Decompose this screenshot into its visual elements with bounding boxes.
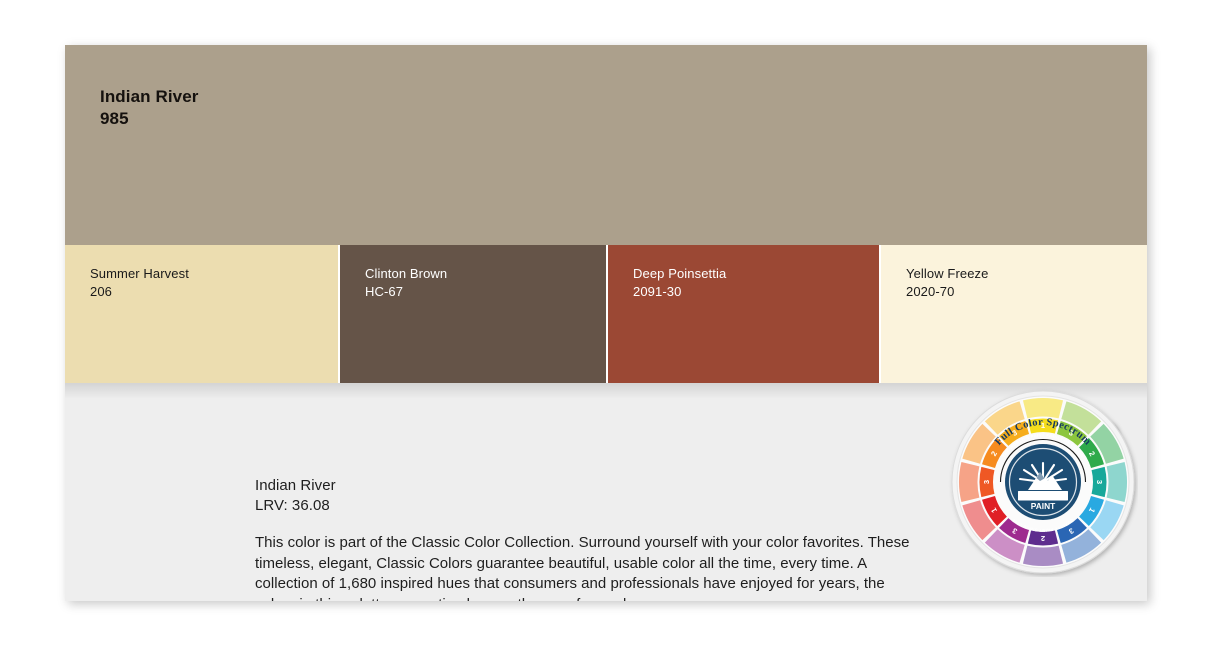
swatch-deep-poinsettia[interactable]: Deep Poinsettia 2091-30: [606, 245, 879, 383]
wheel-segment-outer: [1107, 462, 1127, 502]
swatch-color-code: 206: [90, 283, 189, 301]
swatch-label-group: Clinton Brown HC-67: [365, 265, 447, 301]
swatch-color-code: 2091-30: [633, 283, 726, 301]
wheel-segment-number: 3: [982, 480, 991, 484]
hero-color-swatch[interactable]: Indian River 985: [65, 45, 1147, 245]
wheel-segment-outer: [1023, 398, 1063, 418]
pinnacle-paint-color-wheel-logo: 132313231323 Full Color Spectrum THE WO: [948, 387, 1138, 577]
info-color-name: Indian River: [255, 476, 920, 496]
swatch-summer-harvest[interactable]: Summer Harvest 206: [65, 245, 338, 383]
coordinating-colors-row: Summer Harvest 206 Clinton Brown HC-67 D…: [65, 245, 1147, 383]
swatch-color-name: Yellow Freeze: [906, 265, 988, 283]
screenshot-root: Indian River 985 Summer Harvest 206 Clin…: [0, 0, 1211, 656]
info-lrv-value: LRV: 36.08: [255, 496, 920, 516]
wheel-segment-outer: [959, 462, 979, 502]
paint-color-card: Indian River 985 Summer Harvest 206 Clin…: [65, 45, 1147, 601]
swatch-color-name: Deep Poinsettia: [633, 265, 726, 283]
hero-color-code: 985: [100, 108, 199, 130]
hero-color-name: Indian River: [100, 86, 199, 108]
swatch-label-group: Summer Harvest 206: [90, 265, 189, 301]
wheel-segment-outer: [1023, 546, 1063, 566]
info-collection-description: This color is part of the Classic Color …: [255, 533, 917, 601]
swatch-color-name: Summer Harvest: [90, 265, 189, 283]
color-description-block: Indian River LRV: 36.08 This color is pa…: [255, 476, 920, 601]
swatch-color-name: Clinton Brown: [365, 265, 447, 283]
swatch-label-group: Deep Poinsettia 2091-30: [633, 265, 726, 301]
swatch-yellow-freeze[interactable]: Yellow Freeze 2020-70: [879, 245, 1147, 383]
color-info-panel: Indian River LRV: 36.08 This color is pa…: [65, 383, 1147, 601]
wheel-segment-number: 2: [1041, 534, 1045, 543]
wheel-segment-number: 3: [1095, 480, 1104, 484]
brand-name-line1: PINNACLE: [1020, 491, 1066, 501]
swatch-label-group: Yellow Freeze 2020-70: [906, 265, 988, 301]
swatch-color-code: HC-67: [365, 283, 447, 301]
hero-label-group: Indian River 985: [100, 86, 199, 131]
brand-name-line2: PAINT: [1031, 501, 1056, 511]
swatch-clinton-brown[interactable]: Clinton Brown HC-67: [338, 245, 606, 383]
swatch-color-code: 2020-70: [906, 283, 988, 301]
